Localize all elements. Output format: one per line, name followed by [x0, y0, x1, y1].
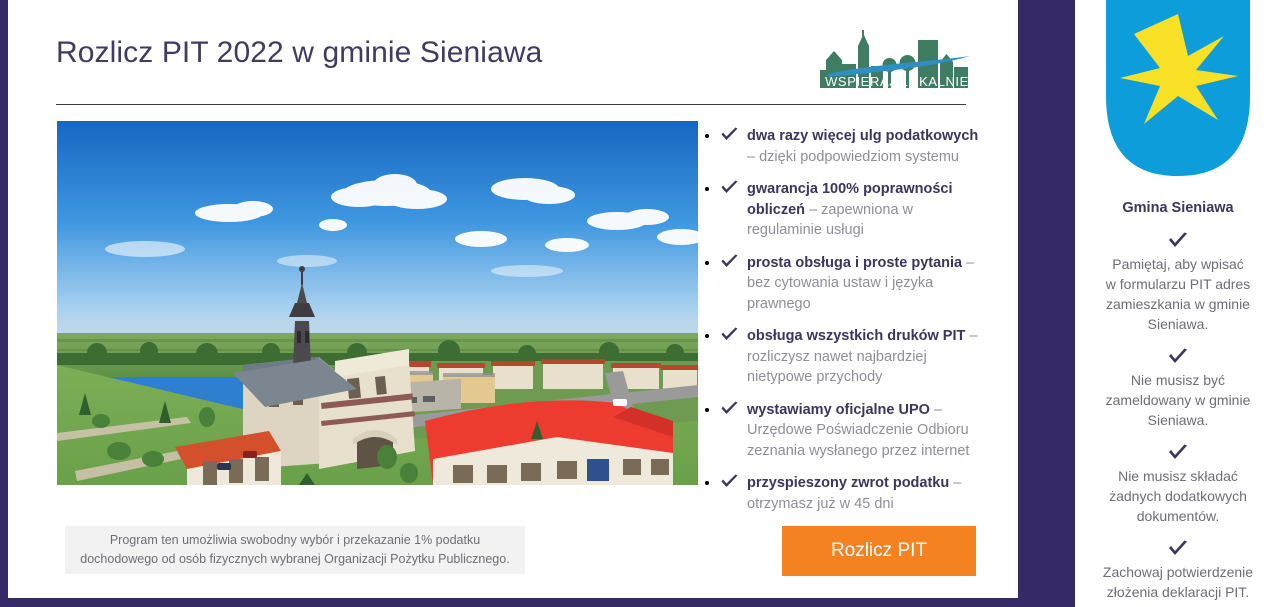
tip-text: Nie musisz być zameldowany w gminie Sien…: [1075, 370, 1281, 430]
feature-bold: obsługa wszystkich druków PIT: [747, 328, 965, 344]
tip-text: Nie musisz składać żadnych dodatkowych d…: [1075, 466, 1281, 526]
feature-bold: prosta obsługa i proste pytania: [747, 255, 962, 271]
logo-text: WSPIERAJ LOKALNIE: [825, 74, 969, 89]
check-icon: [1167, 540, 1189, 558]
feature-rest: – dzięki podpowiedziom systemu: [747, 149, 959, 165]
feature-bold: wystawiamy oficjalne UPO: [747, 402, 930, 418]
feature-text: gwarancja 100% poprawności obliczeń – za…: [747, 181, 953, 238]
tip-item: Pamiętaj, aby wpisać w formularzu PIT ad…: [1075, 232, 1281, 334]
feature-item: prosta obsługa i proste pytania – bez cy…: [720, 253, 985, 315]
feature-bold: przyspieszony zwrot podatku: [747, 475, 949, 491]
tip-item: Nie musisz być zameldowany w gminie Sien…: [1075, 348, 1281, 430]
tip-item: Zachowaj potwierdzenie złożenia deklarac…: [1075, 540, 1281, 602]
feature-text: wystawiamy oficjalne UPO – Urzędowe Pośw…: [747, 402, 969, 459]
feature-bold: dwa razy więcej ulg podatkowych: [747, 128, 978, 144]
check-icon: [720, 327, 739, 343]
check-icon: [1167, 348, 1189, 366]
wspieraj-lokalnie-logo: WSPIERAJ LOKALNIE: [818, 26, 976, 94]
feature-list: dwa razy więcej ulg podatkowych – dzięki…: [720, 126, 985, 514]
town-aerial-photo: [57, 121, 698, 485]
tip-text: Pamiętaj, aby wpisać w formularzu PIT ad…: [1075, 254, 1281, 334]
feature-item: obsługa wszystkich druków PIT – rozliczy…: [720, 326, 985, 388]
main-card: Rozlicz PIT 2022 w gminie Sieniawa: [8, 0, 1018, 598]
check-icon: [720, 401, 739, 417]
check-icon: [720, 254, 739, 270]
gmina-sidebar: Gmina Sieniawa Pamiętaj, aby wpisać w fo…: [1075, 0, 1281, 607]
feature-item: wystawiamy oficjalne UPO – Urzędowe Pośw…: [720, 400, 985, 462]
header-divider: [56, 104, 966, 105]
gmina-label: Gmina Sieniawa: [1075, 200, 1281, 216]
check-icon: [1167, 444, 1189, 462]
check-icon: [1167, 232, 1189, 250]
feature-item: przyspieszony zwrot podatku – otrzymasz …: [720, 473, 985, 514]
check-icon: [720, 180, 739, 196]
page-title: Rozlicz PIT 2022 w gminie Sieniawa: [56, 36, 542, 70]
tip-text: Zachowaj potwierdzenie złożenia deklarac…: [1075, 562, 1281, 602]
page-root: Rozlicz PIT 2022 w gminie Sieniawa: [0, 0, 1281, 607]
check-icon: [720, 127, 739, 143]
rozlicz-pit-button[interactable]: Rozlicz PIT: [782, 526, 976, 576]
check-icon: [720, 474, 739, 490]
feature-text: dwa razy więcej ulg podatkowych – dzięki…: [747, 128, 978, 165]
feature-item: gwarancja 100% poprawności obliczeń – za…: [720, 179, 985, 241]
feature-item: dwa razy więcej ulg podatkowych – dzięki…: [720, 126, 985, 167]
feature-text: prosta obsługa i proste pytania – bez cy…: [747, 255, 974, 312]
gmina-sieniawa-coat-of-arms: [1075, 0, 1281, 180]
feature-text: obsługa wszystkich druków PIT – rozliczy…: [747, 328, 977, 385]
tip-item: Nie musisz składać żadnych dodatkowych d…: [1075, 444, 1281, 526]
feature-text: przyspieszony zwrot podatku – otrzymasz …: [747, 475, 961, 512]
tips-list: Pamiętaj, aby wpisać w formularzu PIT ad…: [1075, 232, 1281, 602]
info-note: Program ten umożliwia swobodny wybór i p…: [65, 526, 525, 574]
